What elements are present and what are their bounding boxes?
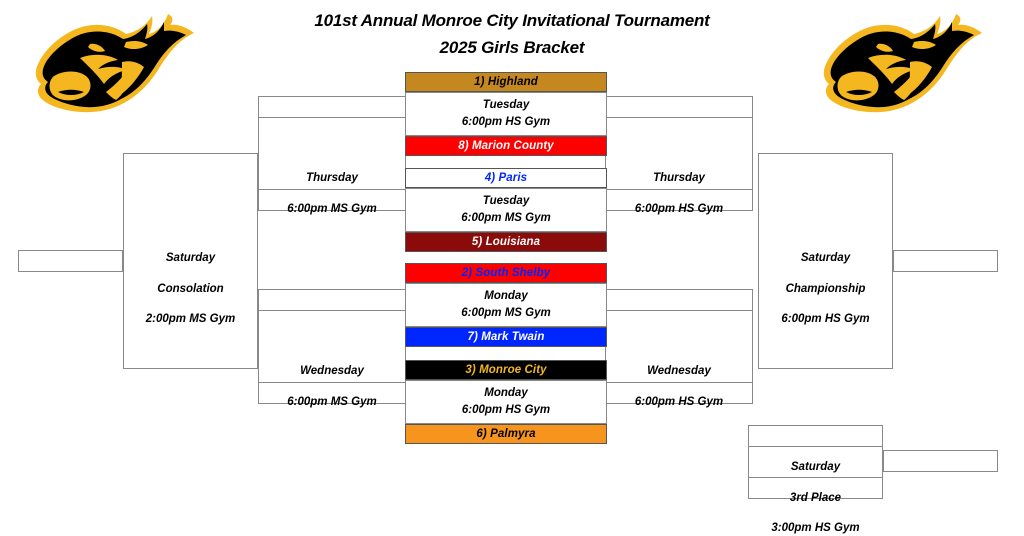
wsf-bottom-time: 6:00pm HS Gym [635, 396, 723, 408]
quarterfinal-1-info[interactable]: Tuesday 6:00pm HS Gym [405, 92, 607, 136]
qf4-day: Monday [484, 385, 527, 402]
qf1-day: Tuesday [483, 97, 529, 114]
csf-bottom-time: 6:00pm MS Gym [287, 396, 376, 408]
consolation-semifinal-bottom-label: Wednesday 6:00pm MS Gym [258, 349, 406, 410]
quarterfinal-2-info[interactable]: Tuesday 6:00pm MS Gym [405, 188, 607, 232]
consolation-final-round: Consolation [157, 283, 223, 295]
seed-bar-south-shelby[interactable]: 2) South Shelby [405, 263, 607, 283]
qf1-time: 6:00pm HS Gym [462, 114, 550, 131]
consolation-semifinal-top-label: Thursday 6:00pm MS Gym [258, 156, 406, 217]
consolation-final-time: 2:00pm MS Gym [146, 313, 235, 325]
seed-bar-highland[interactable]: 1) Highland [405, 72, 607, 92]
csf-top-time: 6:00pm MS Gym [287, 203, 376, 215]
seed-bar-louisiana[interactable]: 5) Louisiana [405, 232, 607, 252]
qf2-day: Tuesday [483, 193, 529, 210]
bracket-page: 101st Annual Monroe City Invitational To… [0, 0, 1024, 519]
consolation-final-day: Saturday [166, 252, 215, 264]
consolation-semifinal-top-upper-slot[interactable] [258, 96, 406, 118]
qf3-time: 6:00pm MS Gym [461, 305, 550, 322]
third-place-upper-slot[interactable] [748, 425, 883, 447]
quarterfinal-3-info[interactable]: Monday 6:00pm MS Gym [405, 283, 607, 327]
third-place-winner-slot[interactable] [883, 450, 998, 472]
tournament-title: 101st Annual Monroe City Invitational To… [0, 10, 1024, 33]
csf-bottom-day: Wednesday [300, 365, 364, 377]
seed-label-highland: 1) Highland [474, 76, 538, 88]
third-place-label: Saturday 3rd Place 3:00pm HS Gym [748, 445, 883, 536]
consolation-final-label: Saturday Consolation 2:00pm MS Gym [123, 236, 258, 327]
seed-bar-monroe-city[interactable]: 3) Monroe City [405, 360, 607, 380]
seed-label-south-shelby: 2) South Shelby [462, 267, 550, 279]
page-title: 101st Annual Monroe City Invitational To… [0, 10, 1024, 60]
championship-day: Saturday [801, 252, 850, 264]
championship-round: Championship [786, 283, 866, 295]
quarterfinal-4-info[interactable]: Monday 6:00pm HS Gym [405, 380, 607, 424]
seed-label-louisiana: 5) Louisiana [472, 236, 540, 248]
csf-top-day: Thursday [306, 172, 358, 184]
qf4-time: 6:00pm HS Gym [462, 402, 550, 419]
winners-semifinal-top-label: Thursday 6:00pm HS Gym [605, 156, 753, 217]
seed-label-marion-county: 8) Marion County [458, 140, 554, 152]
third-place-time: 3:00pm HS Gym [771, 522, 859, 534]
championship-label: Saturday Championship 6:00pm HS Gym [758, 236, 893, 327]
champion-winner-slot[interactable] [893, 250, 998, 272]
bracket-subtitle: 2025 Girls Bracket [0, 37, 1024, 60]
seed-label-palmyra: 6) Palmyra [476, 428, 535, 440]
seed-bar-palmyra[interactable]: 6) Palmyra [405, 424, 607, 444]
seed-bar-marion-county[interactable]: 8) Marion County [405, 136, 607, 156]
third-place-day: Saturday [791, 461, 840, 473]
qf3-day: Monday [484, 288, 527, 305]
seed-bar-paris[interactable]: 4) Paris [405, 168, 607, 188]
seed-label-paris: 4) Paris [485, 172, 527, 184]
championship-time: 6:00pm HS Gym [781, 313, 869, 325]
wsf-top-day: Thursday [653, 172, 705, 184]
winners-semifinal-bottom-label: Wednesday 6:00pm HS Gym [605, 349, 753, 410]
wsf-top-time: 6:00pm HS Gym [635, 203, 723, 215]
seed-label-monroe-city: 3) Monroe City [465, 364, 546, 376]
third-place-round: 3rd Place [790, 492, 841, 504]
consolation-semifinal-bottom-upper-slot[interactable] [258, 289, 406, 311]
consolation-final-winner-slot[interactable] [18, 250, 123, 272]
wsf-bottom-day: Wednesday [647, 365, 711, 377]
seed-bar-mark-twain[interactable]: 7) Mark Twain [405, 327, 607, 347]
winners-semifinal-top-upper-slot[interactable] [605, 96, 753, 118]
seed-label-mark-twain: 7) Mark Twain [468, 331, 545, 343]
qf2-time: 6:00pm MS Gym [461, 210, 550, 227]
winners-semifinal-bottom-upper-slot[interactable] [605, 289, 753, 311]
